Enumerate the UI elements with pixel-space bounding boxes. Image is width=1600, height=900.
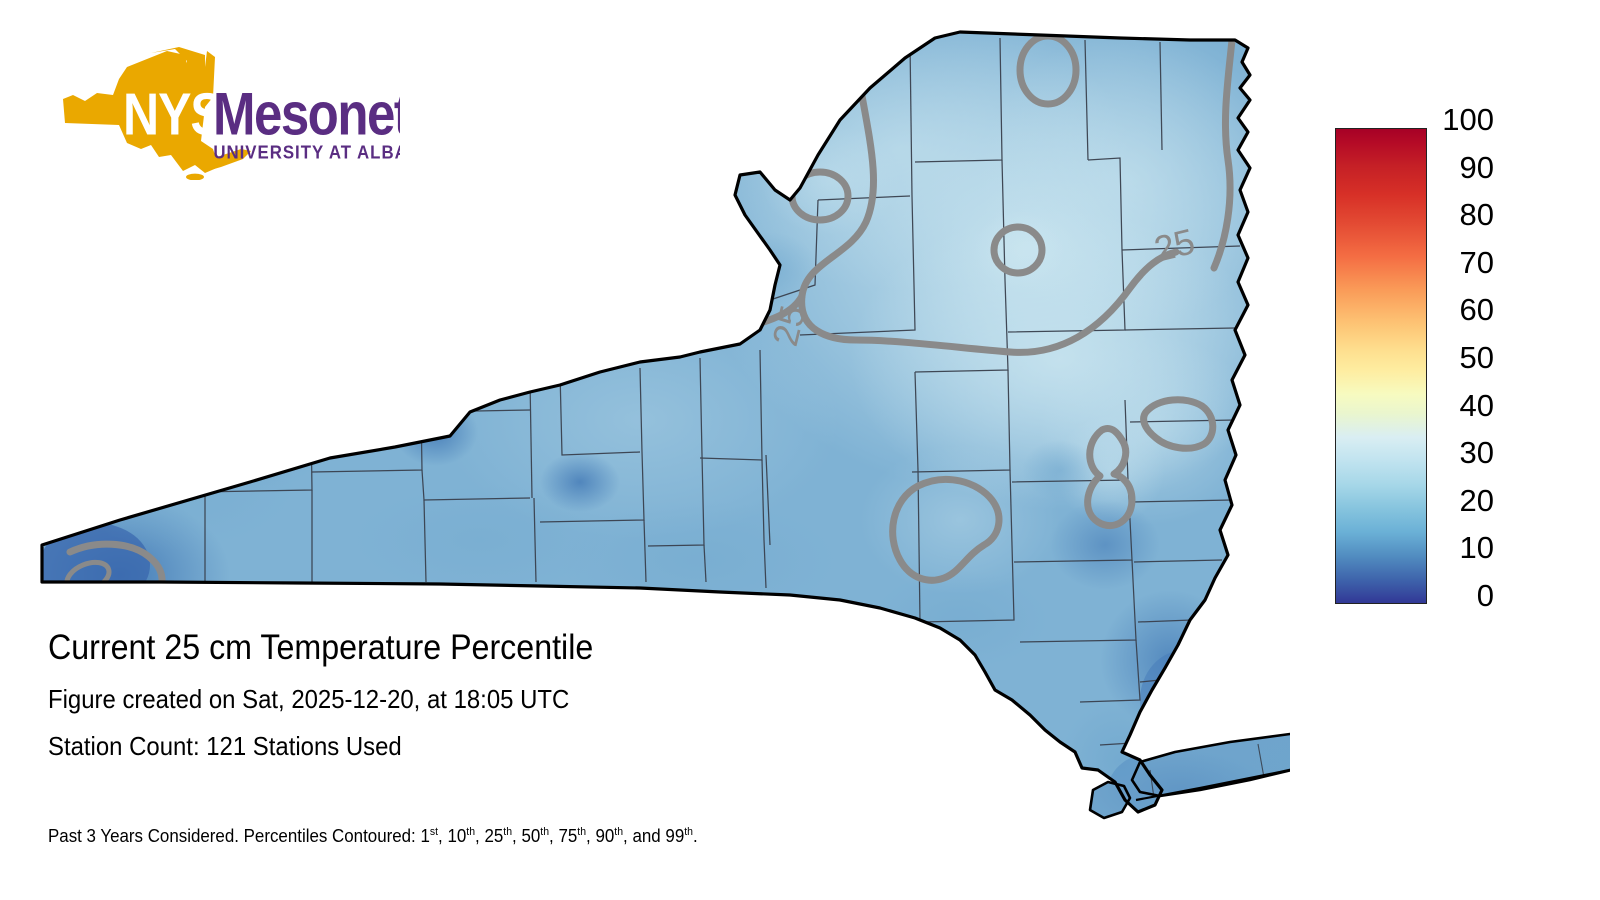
page-title: Current 25 cm Temperature Percentile <box>48 628 968 668</box>
colorbar-tick-70: 70 <box>1432 247 1494 278</box>
caption-block: Current 25 cm Temperature Percentile Fig… <box>48 628 1048 762</box>
footnote-v4: 75 <box>558 826 577 846</box>
footnote-s1: th <box>466 826 475 838</box>
footnote-v6: 99 <box>665 826 684 846</box>
footnote-v1: 10 <box>447 826 466 846</box>
map-interpolated-field <box>0 0 1290 900</box>
colorbar-tick-40: 40 <box>1432 390 1494 421</box>
footnote-prefix: Past 3 Years Considered. Percentiles Con… <box>48 826 420 846</box>
colorbar-tick-0: 0 <box>1432 580 1494 611</box>
station-count: Station Count: 121 Stations Used <box>48 731 968 762</box>
footnote-v3: 50 <box>521 826 540 846</box>
footnote-v0: 1 <box>420 826 429 846</box>
footnote-s2: th <box>503 826 512 838</box>
colorbar-tick-100: 100 <box>1432 104 1494 135</box>
footnote-s0: st <box>430 826 438 838</box>
colorbar-tick-30: 30 <box>1432 437 1494 468</box>
colorbar-tick-10: 10 <box>1432 532 1494 563</box>
footnote-v5: 90 <box>595 826 614 846</box>
colorbar-border <box>1335 128 1427 604</box>
colorbar-tick-20: 20 <box>1432 485 1494 516</box>
colorbar <box>1335 128 1427 604</box>
footnote-v2: 25 <box>484 826 503 846</box>
colorbar-tick-50: 50 <box>1432 342 1494 373</box>
map-svg: 25 25 <box>0 0 1290 900</box>
colorbar-tick-60: 60 <box>1432 294 1494 325</box>
percentile-map: 25 25 <box>0 0 1290 900</box>
colorbar-tick-labels: 100 90 80 70 60 50 40 30 20 10 0 <box>1432 104 1552 628</box>
footnote-s3: th <box>540 826 549 838</box>
footnote-terminator: . <box>693 826 698 846</box>
created-timestamp: Figure created on Sat, 2025-12-20, at 18… <box>48 684 968 715</box>
footnote: Past 3 Years Considered. Percentiles Con… <box>48 826 698 847</box>
colorbar-tick-90: 90 <box>1432 152 1494 183</box>
figure-canvas: NYS Mesonet UNIVERSITY AT ALBANY <box>0 0 1600 900</box>
footnote-s6: th <box>684 826 693 838</box>
footnote-s4: th <box>577 826 586 838</box>
footnote-s5: th <box>614 826 623 838</box>
contour-arc-hudson <box>1160 668 1204 745</box>
footnote-conjunction: and <box>632 826 660 846</box>
colorbar-tick-80: 80 <box>1432 199 1494 230</box>
